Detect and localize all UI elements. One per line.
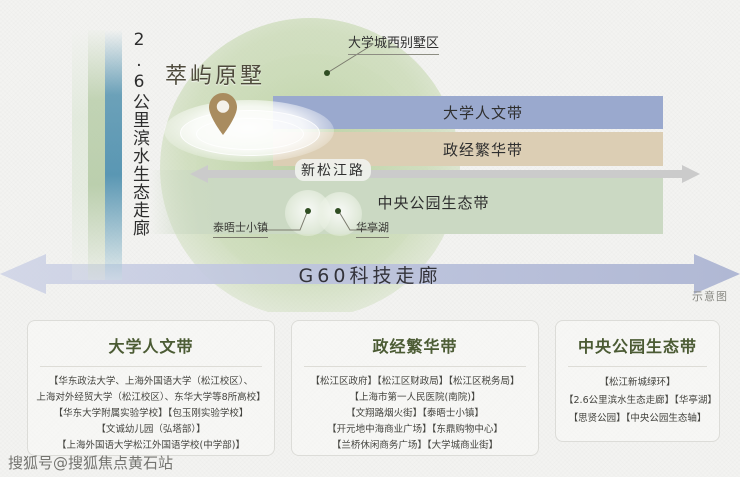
callout-dot-lake [335,208,341,214]
info-cards: 大学人文带 【华东政法大学、上海外国语大学（松江校区）、 上海对外经贸大学（松江… [0,312,740,462]
poster-root: G60科技走廊 2.6公里滨水生态走廊 中央公园生态带 大学人文带 政经繁华带 … [0,0,740,477]
band-central-park-label: 中央公园生态带 [377,192,489,213]
new-songjiang-road-label: 新松江路 [295,159,371,181]
info-card-politics-economy-line-0: 【松江区政府】【松江区财政局】【松江区税务局】 [300,374,530,390]
callout-huating-lake: 华亭湖 [356,219,389,238]
callout-dot-thames [305,208,311,214]
info-card-central-park: 中央公园生态带 【松江新城绿环】 【2.6公里滨水生态走廊】【华亭湖】 【思贤公… [555,320,720,442]
info-card-politics-economy-line-2: 【文翔路烟火街】【泰晤士小镇】 [300,406,530,422]
info-card-politics-economy-title: 政经繁华带 [300,329,530,366]
info-card-politics-economy: 政经繁华带 【松江区政府】【松江区财政局】【松江区税务局】 【上海市第一人民医院… [291,320,539,456]
card-divider [304,366,526,367]
waterfront-strip-pale [72,30,88,280]
map-pin-icon [207,92,239,136]
waterfront-corridor-label: 2.6公里滨水生态走廊 [126,30,152,237]
info-card-politics-economy-line-1: 【上海市第一人民医院(南院)】 [300,390,530,406]
info-card-university-line-0: 【华东政法大学、上海外国语大学（松江校区）、 [36,374,266,390]
info-card-politics-economy-line-3: 【开元地中海商业广场】【东鼎购物中心】 [300,422,530,438]
info-card-central-park-title: 中央公园生态带 [564,329,711,366]
info-card-central-park-line-1: 【2.6公里滨水生态走廊】【华亭湖】 [564,392,711,410]
legend-note: 示意图 [692,288,728,304]
callout-thames-town-label: 泰晤士小镇 [213,219,268,238]
info-card-central-park-line-0: 【松江新城绿环】 [564,374,711,392]
info-card-university-line-2: 【华东大学附属实验学校】【包玉刚实验学校】 [36,406,266,422]
info-card-university: 大学人文带 【华东政法大学、上海外国语大学（松江校区）、 上海对外经贸大学（松江… [27,320,275,456]
card-divider [568,366,707,367]
info-card-university-title: 大学人文带 [36,329,266,366]
info-card-politics-economy-line-4: 【兰桥休闲商务广场】【大学城商业街】 [300,438,530,454]
card-divider [40,366,262,367]
callout-university-west-villa: 大学城西别墅区 [348,32,439,55]
info-card-university-line-3: 【文诚幼儿园（弘塔部）】 [36,422,266,438]
callout-huating-lake-label: 华亭湖 [356,219,389,238]
callout-university-west-villa-label: 大学城西别墅区 [348,32,439,55]
project-name: 萃屿原墅 [165,58,265,90]
waterfront-strip-green [88,30,105,280]
band-university-label: 大学人文带 [443,102,523,123]
callout-dot-uw [324,70,330,76]
map-illustration: G60科技走廊 2.6公里滨水生态走廊 中央公园生态带 大学人文带 政经繁华带 … [0,0,740,312]
info-card-central-park-line-2: 【思贤公园】【中央公园生态轴】 [564,410,711,428]
callout-thames-town: 泰晤士小镇 [213,219,268,238]
band-politics-economy-label: 政经繁华带 [443,139,523,160]
waterfront-strip-teal [105,30,122,280]
new-songjiang-road-arrow [190,165,700,183]
watermark: 搜狐号@搜狐焦点黄石站 [8,452,173,473]
info-card-university-line-1: 上海对外经贸大学（松江校区）、东华大学等8所高校】 [36,390,266,406]
